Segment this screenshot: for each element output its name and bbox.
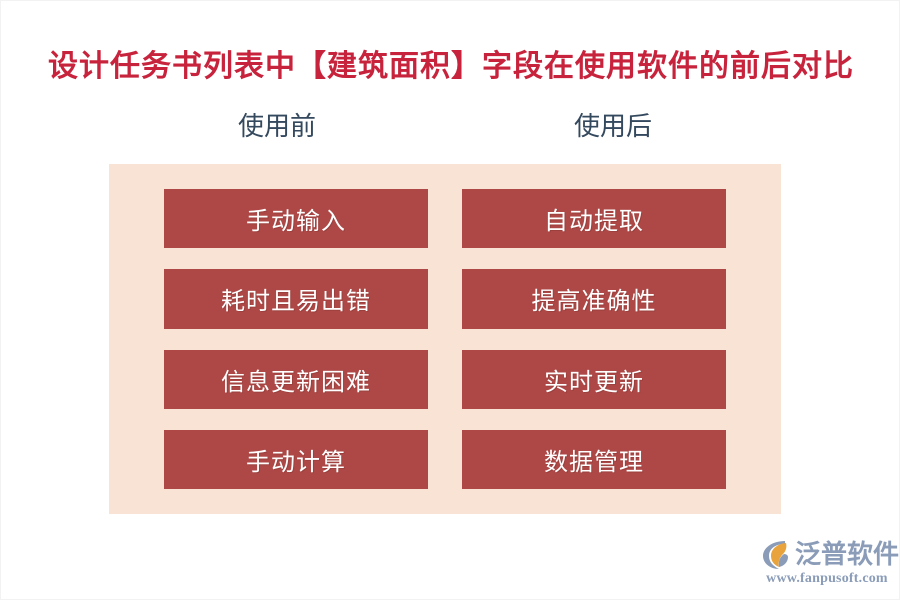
slide-canvas: 设计任务书列表中【建筑面积】字段在使用软件的前后对比 使用前 使用后 手动输入 … — [0, 0, 900, 600]
fanpu-swoosh-icon — [759, 538, 793, 572]
comparison-item: 耗时且易出错 — [164, 269, 428, 328]
comparison-panel: 手动输入 耗时且易出错 信息更新困难 手动计算 自动提取 提高准确性 实时更新 … — [109, 164, 781, 514]
column-header-after: 使用后 — [445, 107, 781, 147]
comparison-item: 实时更新 — [462, 350, 726, 409]
column-header-before: 使用前 — [109, 107, 445, 147]
brand-logo: 泛普软件 www.fanpusoft.com — [759, 537, 895, 593]
comparison-item: 提高准确性 — [462, 269, 726, 328]
comparison-item: 手动计算 — [164, 430, 428, 489]
comparison-item: 手动输入 — [164, 189, 428, 248]
page-title: 设计任务书列表中【建筑面积】字段在使用软件的前后对比 — [1, 41, 900, 85]
column-before: 手动输入 耗时且易出错 信息更新困难 手动计算 — [164, 189, 428, 489]
comparison-item: 数据管理 — [462, 430, 726, 489]
column-after: 自动提取 提高准确性 实时更新 数据管理 — [462, 189, 726, 489]
comparison-item: 信息更新困难 — [164, 350, 428, 409]
column-headers: 使用前 使用后 — [109, 107, 781, 147]
logo-url: www.fanpusoft.com — [759, 571, 895, 587]
comparison-item: 自动提取 — [462, 189, 726, 248]
logo-name: 泛普软件 — [795, 538, 899, 572]
logo-row: 泛普软件 — [759, 537, 895, 573]
